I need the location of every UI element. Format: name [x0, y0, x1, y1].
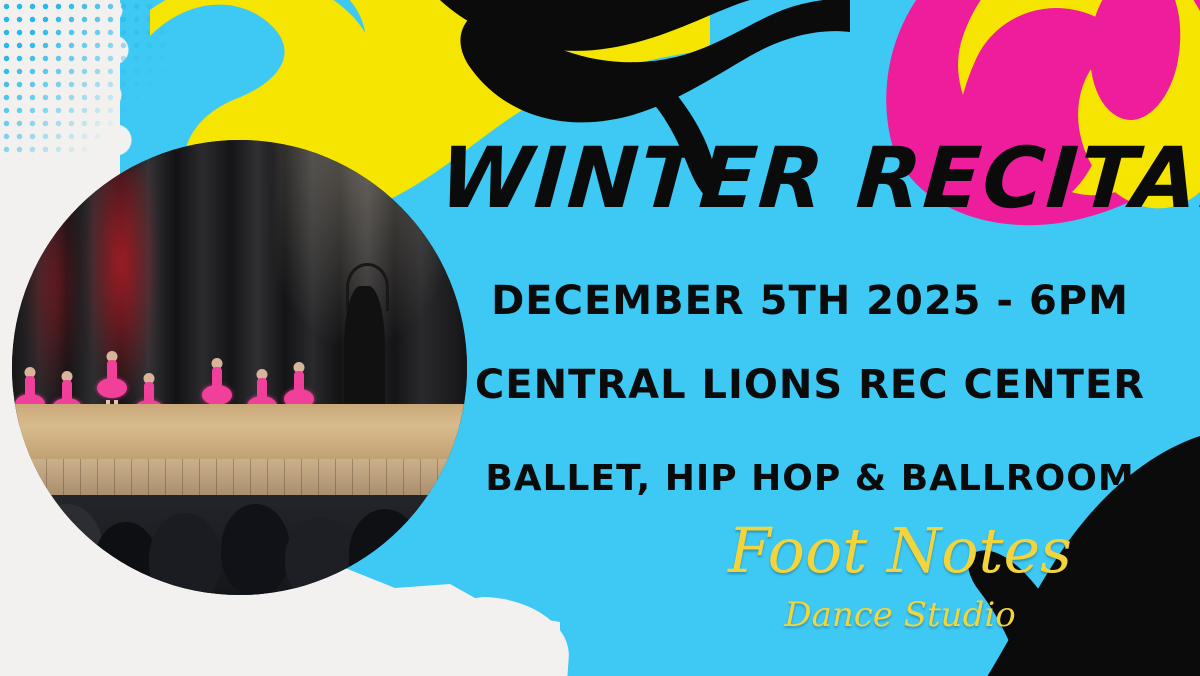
studio-brand-tagline: Dance Studio	[640, 598, 1160, 632]
audience-head	[221, 504, 289, 595]
dance-styles-line: BALLET, HIP HOP & BALLROOM	[440, 458, 1180, 499]
audience-head	[349, 509, 422, 595]
event-venue-line: CENTRAL LIONS REC CENTER	[440, 362, 1180, 408]
audience-head	[149, 513, 222, 595]
torn-paper-bottom-bump	[427, 593, 572, 676]
studio-brand-name: Foot Notes	[640, 520, 1160, 582]
recital-photo	[12, 140, 467, 595]
audience-head	[285, 518, 353, 595]
red-stage-light	[85, 167, 158, 404]
poster-headline: WINTER RECITAL	[437, 136, 1183, 220]
audience-head	[30, 504, 103, 595]
poster-canvas: WINTER RECITAL DECEMBER 5TH 2025 - 6PM C…	[0, 0, 1200, 676]
halftone-dots-pattern	[0, 0, 170, 160]
event-date-line: DECEMBER 5TH 2025 - 6PM	[440, 278, 1180, 324]
